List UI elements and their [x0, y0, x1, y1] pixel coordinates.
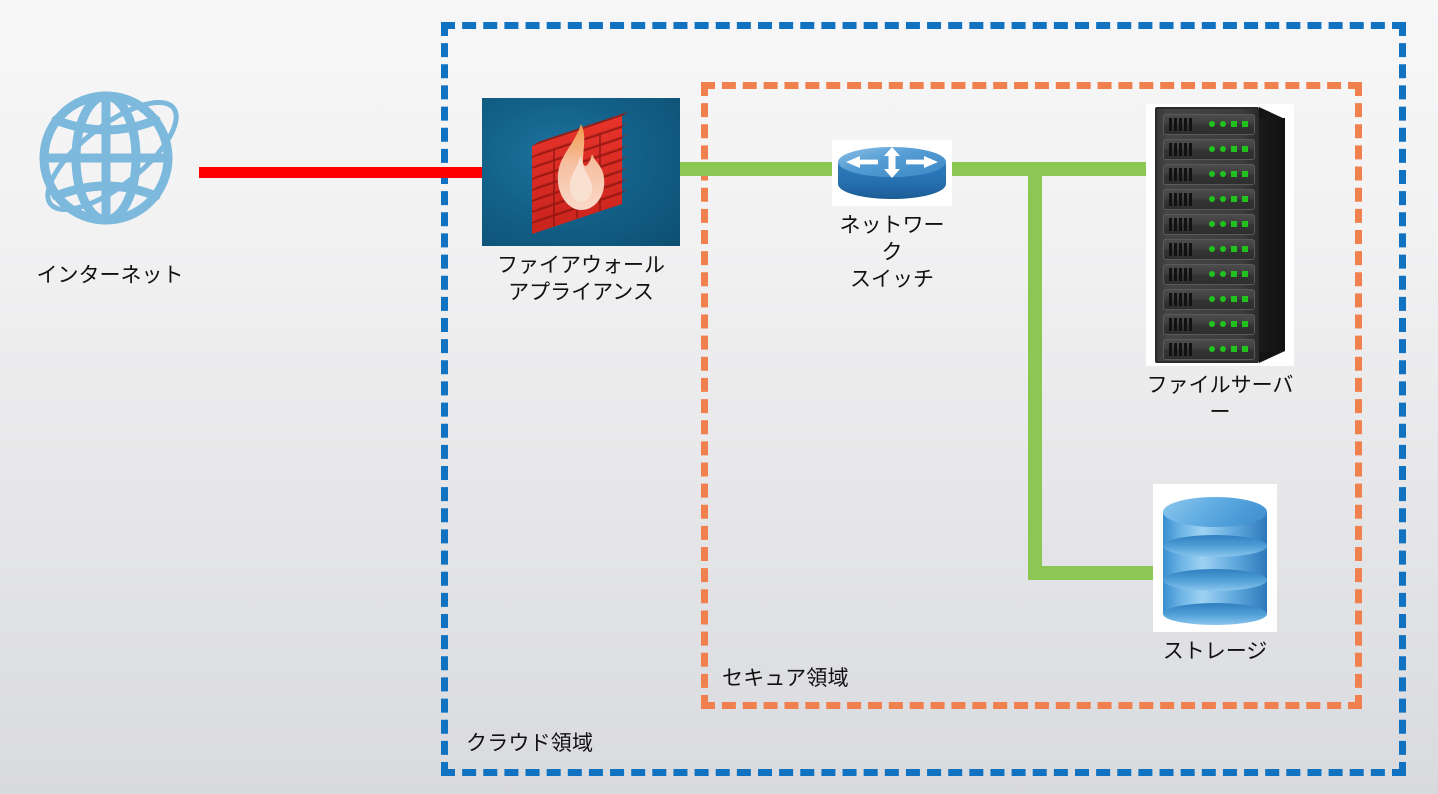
node-storage[interactable]: ストレージ — [1153, 484, 1277, 665]
zone-secure-label: セキュア領域 — [722, 662, 849, 692]
node-firewall[interactable]: ファイアウォール アプライアンス — [482, 98, 680, 306]
node-switch[interactable]: ネットワーク スイッチ — [832, 140, 952, 293]
node-fileserver-label: ファイルサーバー — [1146, 372, 1294, 426]
node-internet[interactable]: インターネット — [6, 62, 214, 289]
globe-icon — [6, 62, 214, 252]
node-internet-label: インターネット — [6, 262, 214, 289]
node-fileserver[interactable]: ファイルサーバー — [1146, 104, 1294, 426]
link-firewall-to-switch — [676, 162, 841, 176]
node-switch-label: ネットワーク スイッチ — [832, 212, 952, 293]
node-firewall-label: ファイアウォール アプライアンス — [482, 252, 680, 306]
server-rack-icon — [1146, 104, 1294, 366]
network-switch-icon — [832, 140, 952, 206]
link-internet-to-firewall — [199, 167, 487, 178]
link-switch-to-storage-horizontal — [1028, 566, 1156, 580]
zone-cloud-label: クラウド領域 — [466, 727, 593, 757]
database-cylinder-icon — [1153, 484, 1277, 632]
node-storage-label: ストレージ — [1153, 638, 1277, 665]
network-diagram-canvas: クラウド領域 セキュア領域 インターネット — [0, 0, 1438, 794]
link-switch-to-storage-vertical — [1028, 162, 1042, 580]
firewall-brick-flame-icon — [482, 98, 680, 246]
link-switch-to-fileserver — [945, 162, 1166, 176]
